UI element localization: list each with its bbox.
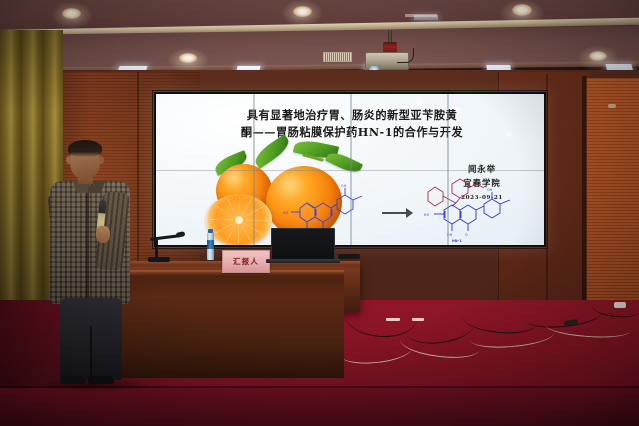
molecule-right-structure: OH HO OH O HN-1	[414, 172, 534, 244]
svg-text:OH: OH	[341, 184, 347, 188]
slide-title-line-1: 具有显著地治疗胃、肠炎的新型亚苄胺黄	[186, 107, 518, 124]
water-bottle-label	[207, 240, 214, 249]
presenter-hair	[68, 140, 102, 157]
svg-text:HO: HO	[424, 213, 430, 217]
placard-label: 汇报人	[233, 256, 259, 267]
presenter-right-hand	[96, 226, 110, 243]
reaction-arrow-shaft	[382, 212, 408, 214]
svg-text:HN-1: HN-1	[452, 239, 462, 243]
ceiling-downlight-icon	[512, 4, 532, 16]
ceiling-panel-light	[414, 15, 438, 20]
floor-tape-mark	[386, 318, 400, 321]
stage-front-face	[0, 388, 639, 426]
ceiling-downlight-icon	[589, 51, 607, 61]
reaction-arrow-head-icon	[406, 208, 413, 218]
presenter-remote-icon[interactable]	[338, 254, 360, 259]
bokeh-sparkle	[180, 112, 182, 114]
lectern-front-panel	[112, 272, 344, 378]
presentation-photo-scene: 具有显著地治疗胃、肠炎的新型亚苄胺黄 酮——胃肠粘膜保护药HN-1的合作与开发 …	[0, 0, 639, 426]
presenter-ear-left	[66, 156, 71, 164]
gooseneck-microphone-base	[148, 257, 170, 262]
projector-cable	[397, 48, 414, 63]
floor-tape-mark	[412, 318, 424, 321]
slide-title: 具有显著地治疗胃、肠炎的新型亚苄胺黄 酮——胃肠粘膜保护药HN-1的合作与开发	[186, 107, 518, 141]
svg-text:O: O	[465, 233, 468, 237]
name-placard: 汇报人	[222, 250, 270, 273]
ceiling-downlight-icon	[293, 6, 312, 17]
laptop-screen[interactable]	[271, 228, 335, 263]
ceiling-air-vent-icon	[323, 52, 352, 62]
ceiling-downlight-icon	[179, 53, 197, 63]
leaf-icon	[325, 149, 363, 176]
svg-text:OH: OH	[487, 188, 493, 192]
slide-title-line-2: 酮——胃肠粘膜保护药HN-1的合作与开发	[186, 124, 518, 141]
laptop-keyboard-base[interactable]	[266, 259, 340, 263]
lcd-video-wall[interactable]: 具有显著地治疗胃、肠炎的新型亚苄胺黄 酮——胃肠粘膜保护药HN-1的合作与开发 …	[154, 92, 546, 247]
video-wall-bezel-horizontal	[156, 170, 544, 172]
presentation-slide: 具有显著地治疗胃、肠炎的新型亚苄胺黄 酮——胃肠粘膜保护药HN-1的合作与开发 …	[156, 94, 544, 245]
bokeh-sparkle	[418, 100, 420, 102]
presenter	[44, 140, 136, 390]
orange-slice-segments	[210, 197, 268, 243]
cable-connector	[614, 302, 626, 308]
water-bottle-cap	[208, 229, 213, 233]
presenter-ear-right	[99, 156, 104, 164]
svg-text:HO: HO	[283, 211, 289, 215]
presenter-shoe-left	[60, 376, 86, 384]
presenter-leg-seam	[90, 326, 92, 380]
ceiling-downlight-icon	[62, 8, 81, 19]
presenter-shirt-placket	[86, 184, 89, 300]
wall-light-icon	[608, 104, 616, 108]
presenter-shoe-right	[88, 376, 114, 384]
